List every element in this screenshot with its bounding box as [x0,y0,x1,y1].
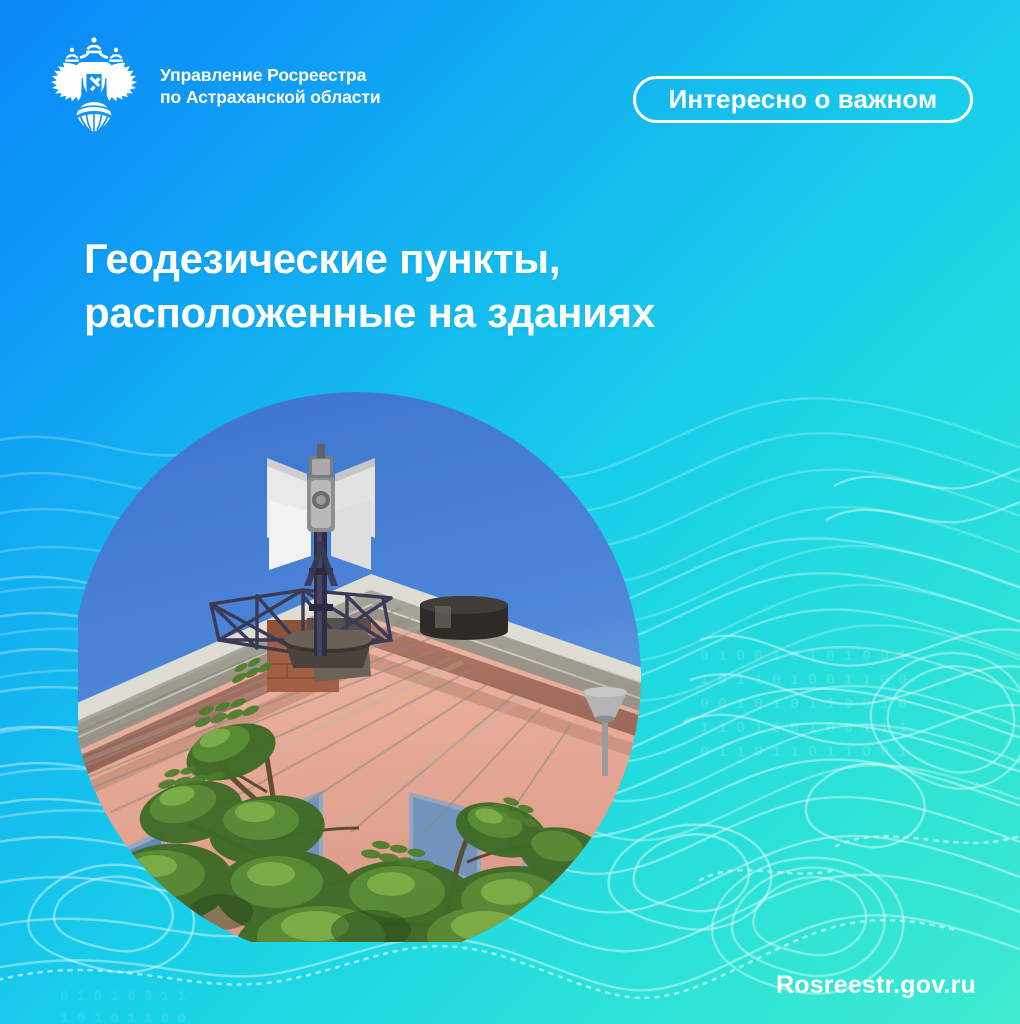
svg-text:0 1 0 0 1 0 1 0 1 0 0 1: 0 1 0 0 1 0 1 0 1 0 0 1 [700,648,907,665]
page-title: Геодезические пункты, расположенные на з… [84,232,784,340]
svg-text:1 0 1 0 1 1 0 0: 1 0 1 0 1 1 0 0 [60,1011,186,1024]
card-header: Управление Росреестра по Астраханской об… [0,0,1020,160]
social-media-card: 0 1 0 0 1 0 1 0 1 0 0 1 1 0 1 1 0 1 0 0 … [0,0,1020,1024]
rosreestr-double-headed-eagle-emblem [42,34,146,134]
brand-logo: Управление Росреестра по Астраханской об… [42,34,381,134]
photo-circle-mask [78,392,641,942]
brand-org-name: Управление Росреестра по Астраханской об… [160,64,381,108]
svg-text:0 1 1 0 1 1 0 1 1 0 0 1: 0 1 1 0 1 1 0 1 1 0 0 1 [700,744,907,761]
svg-text:1 1 0 1 0 0 1 0 0 1 1 1: 1 1 0 1 0 0 1 0 0 1 1 1 [700,720,907,737]
geodetic-point-photo [78,392,641,942]
svg-text:0 0 1 0 1 0 1 1 0 0 1 0: 0 0 1 0 1 0 1 1 0 0 1 0 [700,696,907,713]
photo-frame [78,392,656,942]
footer-website-url[interactable]: Rosreestr.gov.ru [776,971,976,1000]
svg-text:0 1 0 1 0 0 1 1: 0 1 0 1 0 0 1 1 [60,989,186,1005]
svg-text:1 0 1 1 0 1 0 0 1 1 0 0: 1 0 1 1 0 1 0 0 1 1 0 0 [700,672,907,689]
category-badge[interactable]: Интересно о важном [633,76,973,123]
category-badge-label: Интересно о важном [669,84,938,115]
